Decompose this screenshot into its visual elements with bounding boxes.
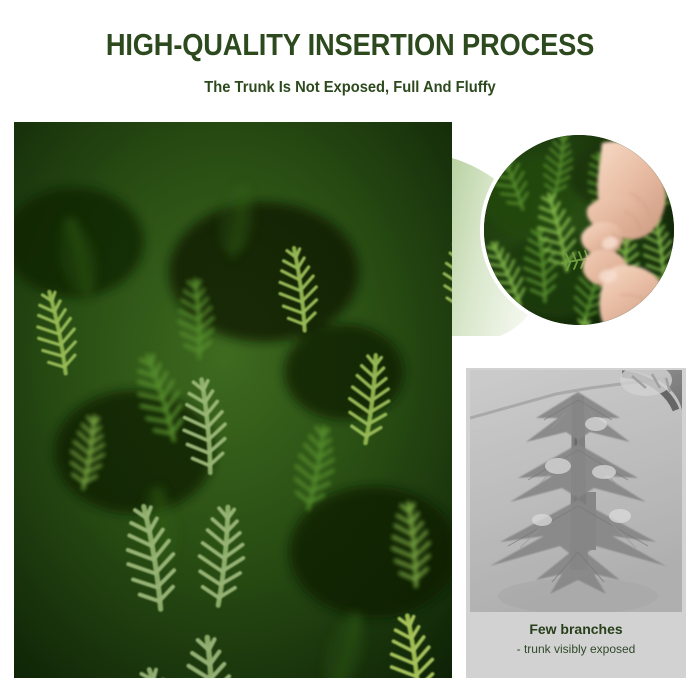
comparison-panel: Few branches - trunk visibly exposed xyxy=(466,368,686,678)
sparse-tree-illustration xyxy=(470,370,682,612)
page-title: HIGH-QUALITY INSERTION PROCESS xyxy=(42,28,658,62)
comparison-heading: Few branches xyxy=(466,620,686,639)
sparse-tree-photo xyxy=(470,370,682,612)
hero-foliage-photo xyxy=(14,122,452,678)
page-subtitle: The Trunk Is Not Exposed, Full And Fluff… xyxy=(28,78,672,98)
hand-inserting-branch-illustration xyxy=(484,135,674,325)
product-feature-graphic: HIGH-QUALITY INSERTION PROCESS The Trunk… xyxy=(0,0,700,700)
zoom-inset-circle xyxy=(484,135,674,325)
header: HIGH-QUALITY INSERTION PROCESS The Trunk… xyxy=(0,0,700,118)
comparison-subtext: - trunk visibly exposed xyxy=(466,641,686,658)
hero-foliage-illustration xyxy=(14,122,452,678)
comparison-caption: Few branches - trunk visibly exposed xyxy=(466,620,686,658)
